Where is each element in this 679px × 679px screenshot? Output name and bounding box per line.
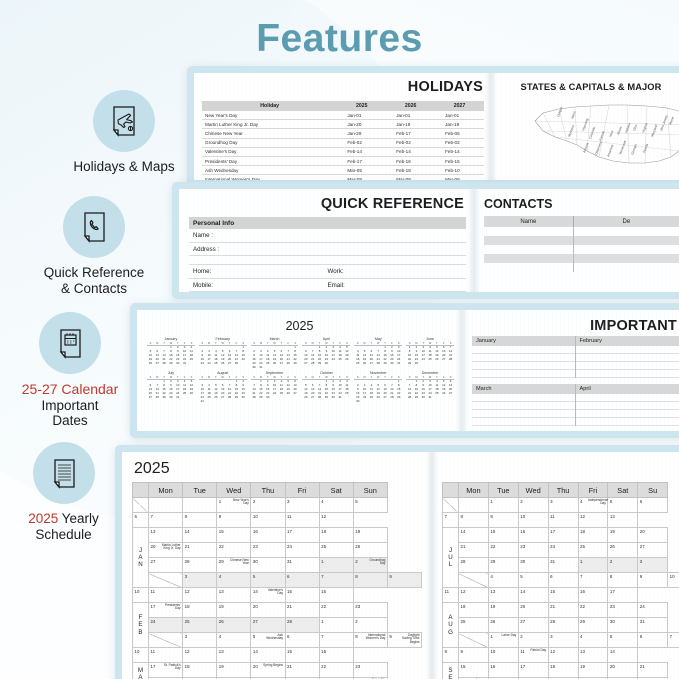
important-dates-lines[interactable] — [472, 394, 575, 426]
mini-day-cell — [188, 396, 195, 400]
mini-day-cell: 31 — [181, 362, 188, 366]
schedule-day-cell[interactable]: 27 — [518, 618, 548, 633]
schedule-day-cell[interactable]: 4 — [217, 573, 251, 588]
schedule-day-cell[interactable]: 13 — [149, 528, 183, 543]
schedule-day-cell[interactable]: 9 — [217, 513, 251, 528]
schedule-day-cell[interactable]: 2 — [608, 558, 638, 573]
schedule-day-cell[interactable]: 7 — [319, 633, 353, 648]
schedule-day-cell[interactable]: 23 — [353, 663, 387, 678]
contacts-name-cell[interactable] — [484, 254, 574, 263]
important-dates-month-cell[interactable]: February — [576, 336, 679, 378]
schedule-day-cell[interactable]: 13 — [217, 588, 251, 603]
schedule-day-cell[interactable]: 2 — [353, 618, 387, 633]
holiday-date-cell: Feb-17 — [386, 129, 435, 138]
mini-month: OctoberSMTWTFS12345678910111213141516171… — [302, 371, 350, 403]
schedule-day-cell[interactable]: 30 — [518, 558, 548, 573]
schedule-day-cell[interactable]: 23 — [608, 603, 638, 618]
schedule-day-cell[interactable]: 11 — [443, 588, 459, 603]
schedule-day-cell[interactable]: 12 — [183, 588, 217, 603]
schedule-year-right: 2 — [432, 460, 679, 478]
schedule-day-cell[interactable]: 20 — [638, 528, 668, 543]
schedule-day-cell[interactable]: 16 — [518, 528, 548, 543]
schedule-day-cell[interactable]: 2 — [518, 633, 548, 648]
schedule-day-cell[interactable]: 7 — [578, 573, 608, 588]
important-dates-month-label: March — [472, 384, 575, 394]
schedule-day-cell[interactable]: 18 — [548, 663, 578, 678]
schedule-day-cell[interactable]: 25 — [319, 543, 353, 558]
important-dates-lines[interactable] — [472, 346, 575, 378]
feature-label-line1: Holidays & Maps — [48, 159, 200, 175]
schedule-day-cell[interactable]: 25 — [459, 618, 489, 633]
schedule-day-cell[interactable]: 3 — [548, 498, 578, 513]
contacts-name-cell[interactable] — [484, 227, 574, 236]
day-number: 22 — [490, 544, 495, 549]
write-line[interactable] — [472, 370, 575, 378]
schedule-day-cell[interactable]: 9 — [488, 513, 518, 528]
schedule-day-cell[interactable]: 14 — [459, 528, 489, 543]
contacts-details-cell[interactable] — [574, 236, 679, 245]
schedule-day-cell[interactable]: 15 — [548, 588, 578, 603]
schedule-day-cell[interactable]: 22 — [578, 603, 608, 618]
schedule-day-cell[interactable]: 19 — [217, 603, 251, 618]
contacts-row[interactable] — [484, 263, 679, 272]
schedule-day-cell[interactable] — [183, 498, 217, 513]
schedule-day-cell[interactable]: 9Daylight Saving Time Begins — [387, 633, 421, 648]
schedule-day-cell[interactable]: 28 — [459, 558, 489, 573]
schedule-day-cell[interactable]: 11Patriot Day — [518, 648, 548, 663]
holiday-date-cell: Jan-01 — [337, 111, 386, 120]
schedule-day-cell[interactable]: 11 — [285, 513, 319, 528]
schedule-day-cell[interactable]: 3 — [285, 498, 319, 513]
mini-day-cell — [343, 396, 350, 400]
mini-day-cell: 28 — [309, 362, 316, 366]
day-number: 12 — [185, 589, 190, 594]
important-dates-lines[interactable] — [576, 346, 679, 378]
contacts-name-cell[interactable] — [484, 236, 574, 245]
schedule-day-cell[interactable]: 20Spring Begins — [251, 663, 285, 678]
schedule-day-cell[interactable]: 10 — [668, 573, 679, 588]
holiday-date-cell: Jan-19 — [386, 120, 435, 129]
schedule-day-cell[interactable]: 31 — [285, 558, 319, 573]
schedule-day-cell[interactable]: 28 — [285, 618, 319, 633]
day-number: 16 — [321, 589, 326, 594]
schedule-day-cell[interactable]: 31 — [548, 558, 578, 573]
page-holidays: HOLIDAYS Holiday202520262027 New Year's … — [194, 73, 491, 180]
schedule-day-cell[interactable]: 1 — [319, 618, 353, 633]
mini-day-cell: 29 — [413, 396, 420, 400]
schedule-day-cell[interactable]: 19 — [353, 528, 387, 543]
write-line[interactable] — [472, 418, 575, 426]
schedule-day-cell[interactable]: 8 — [443, 648, 459, 663]
schedule-day-cell[interactable]: 17 — [548, 528, 578, 543]
schedule-day-cell[interactable]: 4 — [319, 498, 353, 513]
important-dates-row: JanuaryFebruary — [472, 336, 679, 378]
schedule-day-cell[interactable]: 30 — [251, 558, 285, 573]
schedule-day-cell[interactable]: 14 — [183, 528, 217, 543]
schedule-day-cell[interactable]: 22 — [319, 603, 353, 618]
schedule-day-cell[interactable]: 13 — [608, 513, 638, 528]
mini-day-cell — [395, 400, 402, 404]
mini-day-cell: 28 — [154, 396, 161, 400]
important-dates-lines[interactable] — [576, 394, 679, 426]
schedule-day-cell[interactable]: 13 — [217, 648, 251, 663]
schedule-day-cell[interactable]: 29 — [578, 618, 608, 633]
schedule-day-cell[interactable]: 12 — [183, 648, 217, 663]
schedule-day-cell[interactable] — [149, 498, 183, 513]
day-number: 8 — [445, 649, 447, 654]
write-line[interactable] — [576, 418, 679, 426]
schedule-day-cell[interactable]: 7 — [319, 573, 353, 588]
mini-day-cell: 27 — [147, 396, 154, 400]
schedule-day-cell[interactable]: 26 — [488, 618, 518, 633]
mini-day-cell: 27 — [226, 362, 233, 366]
holiday-date-cell: Jan-18 — [435, 120, 484, 129]
schedule-day-cell[interactable]: 16 — [251, 528, 285, 543]
svg-text:Indiana: Indiana — [624, 122, 631, 133]
schedule-day-cell[interactable]: 11 — [149, 648, 183, 663]
table-row: New Year's DayJan-01Jan-01Jan-01 — [202, 111, 484, 120]
schedule-day-cell[interactable]: 9 — [459, 648, 489, 663]
dow-label: W — [375, 376, 382, 379]
schedule-day-cell[interactable]: 28 — [183, 558, 217, 573]
schedule-day-cell[interactable]: 21 — [548, 603, 578, 618]
write-line[interactable] — [576, 354, 679, 362]
schedule-day-cell[interactable]: 17Presidents' Day — [149, 603, 183, 618]
day-number: 7 — [445, 514, 447, 519]
dow-label: T — [212, 342, 219, 345]
dow-label: S — [354, 342, 361, 345]
schedule-day-cell[interactable]: 29 — [488, 558, 518, 573]
mini-day-cell: 30 — [420, 396, 427, 400]
mini-day-cell: 26 — [147, 362, 154, 366]
schedule-day-cell[interactable]: 27 — [149, 558, 183, 573]
important-dates-month-cell[interactable]: March — [472, 384, 576, 426]
schedule-day-cell[interactable]: 10 — [251, 513, 285, 528]
schedule-day-cell[interactable]: 23 — [518, 543, 548, 558]
day-number: 3 — [185, 574, 187, 579]
mini-day-cell: 29 — [167, 362, 174, 366]
schedule-day-cell[interactable]: 6 — [638, 498, 668, 513]
schedule-day-cell[interactable]: 21 — [285, 603, 319, 618]
schedule-day-cell[interactable]: 7 — [443, 513, 459, 528]
schedule-day-cell[interactable]: 26 — [217, 618, 251, 633]
holiday-name-cell: Valentine's Day — [202, 147, 337, 156]
schedule-day-cell[interactable]: 20Martin Luther King Jr. Day — [149, 543, 183, 558]
day-number: 27 — [520, 619, 525, 624]
feature-item-holidays-maps[interactable]: Holidays & Maps — [48, 90, 200, 175]
schedule-day-cell[interactable]: 3 — [183, 633, 217, 648]
schedule-day-cell[interactable]: 17 — [518, 663, 548, 678]
mini-day-cell — [368, 400, 375, 404]
schedule-day-cell[interactable]: 25 — [183, 618, 217, 633]
mini-day-cell: 27 — [302, 362, 309, 366]
schedule-day-cell[interactable]: 1 — [319, 558, 353, 573]
day-number: 23 — [355, 604, 360, 609]
schedule-day-cell[interactable]: 11 — [149, 588, 183, 603]
schedule-day-cell[interactable]: 20 — [608, 663, 638, 678]
schedule-day-cell[interactable]: 21 — [638, 663, 668, 678]
write-line[interactable] — [472, 346, 575, 354]
schedule-day-cell[interactable]: 12 — [319, 513, 353, 528]
svg-text:Ohio: Ohio — [632, 124, 638, 132]
schedule-day-cell[interactable]: 3 — [548, 633, 578, 648]
feature-item-calendar-important-dates[interactable]: 25-27 Calendar Important Dates — [0, 312, 140, 429]
write-line[interactable] — [576, 394, 679, 402]
schedule-day-cell[interactable]: 8 — [459, 513, 489, 528]
contacts-row[interactable] — [484, 227, 679, 236]
schedule-day-cell[interactable]: 12 — [578, 513, 608, 528]
schedule-day-cell[interactable]: 23 — [251, 543, 285, 558]
mini-day-cell: 28 — [233, 362, 240, 366]
mini-month: AugustSMTWTFS123456789101112131415161718… — [199, 371, 247, 403]
schedule-day-cell[interactable]: 27 — [638, 543, 668, 558]
schedule-day-cell[interactable]: 14 — [518, 588, 548, 603]
write-line[interactable] — [472, 394, 575, 402]
personal-info-row[interactable]: Name : — [189, 229, 466, 243]
schedule-day-cell[interactable]: 10 — [488, 648, 518, 663]
schedule-day-cell[interactable]: 24 — [285, 543, 319, 558]
schedule-day-cell[interactable]: 23 — [353, 603, 387, 618]
schedule-day-cell[interactable]: 9 — [638, 573, 668, 588]
personal-info-block: Personal Info Name :Address :Home:Work:M… — [189, 217, 466, 292]
day-number: 17 — [287, 529, 292, 534]
feature-item-quick-reference-contacts[interactable]: Quick Reference & Contacts — [18, 196, 170, 297]
schedule-day-cell[interactable]: 5Ash Wednesday — [251, 633, 285, 648]
contacts-details-cell[interactable] — [574, 227, 679, 236]
day-number: 23 — [610, 604, 615, 609]
schedule-day-cell[interactable]: 12 — [548, 648, 578, 663]
schedule-dow-header: Thu — [548, 483, 578, 498]
schedule-day-cell[interactable]: 18 — [183, 603, 217, 618]
schedule-day-cell[interactable]: 25 — [578, 543, 608, 558]
schedule-day-cell[interactable]: 19 — [608, 528, 638, 543]
schedule-day-cell[interactable]: 16 — [488, 663, 518, 678]
schedule-year-left: 2025 — [134, 460, 432, 478]
mini-month-name: February — [199, 337, 247, 341]
schedule-day-cell[interactable]: 18 — [319, 528, 353, 543]
schedule-day-cell[interactable]: 19 — [578, 663, 608, 678]
schedule-day-cell[interactable]: 24 — [548, 543, 578, 558]
schedule-day-cell[interactable]: 5 — [608, 498, 638, 513]
personal-info-row[interactable]: Home:Work: — [189, 265, 466, 279]
dow-label: T — [368, 376, 375, 379]
schedule-day-cell[interactable]: 14Valentine's Day — [251, 588, 285, 603]
schedule-day-cell[interactable]: 20 — [251, 603, 285, 618]
schedule-day-cell[interactable]: 6 — [548, 573, 578, 588]
schedule-day-cell[interactable]: 31 — [638, 618, 668, 633]
contacts-row[interactable] — [484, 254, 679, 263]
schedule-day-cell[interactable]: 1New Year's Day — [217, 498, 251, 513]
schedule-day-cell[interactable]: 15 — [488, 528, 518, 543]
schedule-day-cell[interactable]: 6 — [133, 513, 149, 528]
day-number: 15 — [550, 589, 555, 594]
day-number: 11 — [520, 649, 525, 654]
month-letter: M — [133, 667, 148, 674]
write-line[interactable] — [472, 362, 575, 370]
field-label-left: Home: — [193, 268, 328, 275]
schedule-day-cell[interactable]: 17St. Patrick's Day — [149, 663, 183, 678]
personal-info-row[interactable]: Address : — [189, 243, 466, 257]
schedule-day-cell[interactable]: 6 — [638, 633, 668, 648]
personal-info-row[interactable]: Mobile:Email: — [189, 279, 466, 293]
day-number: 1 — [321, 619, 323, 624]
schedule-day-cell[interactable]: 22 — [488, 543, 518, 558]
schedule-body-left: 1New Year's Day23456789101112JAN13141516… — [133, 498, 422, 679]
schedule-day-cell[interactable]: 14 — [608, 648, 638, 663]
contacts-details-cell[interactable] — [574, 263, 679, 272]
schedule-day-cell[interactable]: 18 — [183, 663, 217, 678]
schedule-day-cell[interactable]: 18 — [578, 528, 608, 543]
contacts-details-cell[interactable] — [574, 254, 679, 263]
schedule-day-cell[interactable]: 14 — [251, 648, 285, 663]
schedule-day-cell[interactable]: 22 — [217, 543, 251, 558]
day-number: 17 — [520, 664, 525, 669]
day-number: 9 — [219, 514, 221, 519]
schedule-day-cell[interactable]: 10 — [133, 588, 149, 603]
schedule-day-cell[interactable]: 5 — [518, 573, 548, 588]
write-line[interactable] — [576, 362, 679, 370]
schedule-day-cell[interactable]: 4 — [578, 633, 608, 648]
write-line[interactable] — [576, 346, 679, 354]
schedule-day-cell[interactable]: 17 — [285, 528, 319, 543]
mini-day-cell — [447, 362, 454, 366]
schedule-day-cell[interactable]: 15 — [285, 648, 319, 663]
schedule-day-cell[interactable]: 3 — [638, 558, 668, 573]
mini-day-cell — [181, 396, 188, 400]
schedule-day-cell[interactable]: 10 — [518, 513, 548, 528]
contacts-name-cell[interactable] — [484, 245, 574, 254]
day-number: 19 — [355, 529, 360, 534]
day-number: 21 — [640, 664, 645, 669]
day-number: 17 — [151, 664, 156, 669]
mini-day-cell — [188, 362, 195, 366]
mini-month-week: 30 — [354, 400, 402, 404]
schedule-day-cell[interactable]: 7Grandpa — [668, 633, 679, 648]
dow-label: F — [233, 342, 240, 345]
holiday-name-cell: Chinese New Year — [202, 129, 337, 138]
schedule-day-cell[interactable]: 3 — [183, 573, 217, 588]
schedule-day-cell[interactable]: 12 — [459, 588, 489, 603]
schedule-day-cell[interactable]: 5 — [251, 573, 285, 588]
write-line[interactable] — [472, 354, 575, 362]
schedule-day-cell[interactable]: 7 — [149, 513, 183, 528]
contacts-details-cell[interactable] — [574, 245, 679, 254]
important-dates-month-cell[interactable]: April — [576, 384, 679, 426]
feature-item-yearly-schedule[interactable]: 2025 Yearly Schedule — [0, 442, 131, 543]
schedule-day-cell[interactable]: 24 — [149, 618, 183, 633]
contacts-row[interactable] — [484, 245, 679, 254]
schedule-day-cell[interactable]: 16 — [319, 588, 353, 603]
mini-month-name: August — [199, 371, 247, 375]
schedule-day-cell[interactable]: 2 — [251, 498, 285, 513]
schedule-day-cell[interactable]: 15 — [459, 663, 489, 678]
schedule-day-cell[interactable]: 6 — [285, 573, 319, 588]
schedule-day-cell[interactable]: 2Groundhog Day — [353, 558, 387, 573]
schedule-day-cell[interactable]: 24 — [638, 603, 668, 618]
book-spread-quick-reference: QUICK REFERENCE Personal Info Name :Addr… — [172, 182, 679, 299]
schedule-day-cell[interactable]: 8 — [608, 573, 638, 588]
schedule-day-cell[interactable]: 1 — [578, 558, 608, 573]
feature-label-line1: 2025 Yearly — [0, 511, 131, 527]
schedule-day-cell[interactable]: 15 — [285, 588, 319, 603]
poster-canvas: Features Holidays & Maps Quick Refer — [0, 0, 679, 679]
schedule-week-row: 6789101112 — [133, 513, 422, 528]
schedule-day-cell[interactable]: 21 — [459, 543, 489, 558]
schedule-day-cell[interactable]: 11 — [548, 513, 578, 528]
dow-label: W — [375, 342, 382, 345]
schedule-day-cell[interactable]: 13 — [488, 588, 518, 603]
day-number: 5 — [253, 574, 255, 579]
schedule-day-cell[interactable]: 4 — [217, 633, 251, 648]
schedule-day-cell[interactable]: 6 — [285, 633, 319, 648]
day-number: 31 — [287, 559, 292, 564]
schedule-day-cell[interactable]: 10 — [133, 648, 149, 663]
schedule-day-cell[interactable]: 8International Women's Day — [353, 633, 387, 648]
schedule-day-cell[interactable]: 13 — [578, 648, 608, 663]
schedule-day-cell[interactable]: 20 — [518, 603, 548, 618]
mini-month: DecemberSMTWTFS1234567891011121314151617… — [406, 371, 454, 403]
schedule-day-cell[interactable]: 16 — [578, 588, 608, 603]
day-number: 25 — [321, 544, 326, 549]
schedule-day-cell[interactable]: 8 — [183, 513, 217, 528]
feature-label-line1: Important — [0, 398, 140, 414]
schedule-day-cell[interactable]: 4 — [488, 573, 518, 588]
schedule-day-cell[interactable]: 2 — [518, 498, 548, 513]
svg-text:Oregon: Oregon — [556, 106, 563, 117]
schedule-day-cell[interactable]: 19 — [488, 603, 518, 618]
day-number: 12 — [185, 649, 190, 654]
schedule-day-cell[interactable]: 22 — [319, 663, 353, 678]
contacts-name-cell[interactable] — [484, 263, 574, 272]
schedule-day-cell[interactable]: 18 — [459, 603, 489, 618]
schedule-day-cell[interactable]: 9 — [387, 573, 421, 588]
schedule-week-row: 242526272812 — [133, 618, 422, 633]
write-line[interactable] — [576, 402, 679, 410]
schedule-day-cell[interactable]: 4Independence Day — [578, 498, 608, 513]
schedule-day-cell[interactable]: 26 — [353, 543, 387, 558]
schedule-day-cell[interactable]: 5 — [608, 633, 638, 648]
book-spread-yearly-schedule: 2025 MonTueWedThuFriSatSun 1New Year's D… — [115, 445, 679, 679]
schedule-day-cell[interactable]: 15 — [217, 528, 251, 543]
schedule-week-row: FEB17Presidents' Day181920212223 — [133, 603, 422, 618]
day-number: 2 — [520, 634, 522, 639]
schedule-day-cell[interactable]: 16 — [319, 648, 353, 663]
schedule-day-cell[interactable]: 30 — [608, 618, 638, 633]
schedule-day-cell[interactable]: 5 — [353, 498, 387, 513]
schedule-day-cell[interactable]: 26 — [608, 543, 638, 558]
schedule-day-cell[interactable]: 21 — [285, 663, 319, 678]
write-line[interactable] — [576, 370, 679, 378]
day-number: 17 — [610, 589, 615, 594]
schedule-day-cell[interactable] — [459, 498, 489, 513]
schedule-day-cell[interactable]: 1Labor Day — [488, 633, 518, 648]
schedule-day-cell[interactable]: 19 — [217, 663, 251, 678]
schedule-day-cell[interactable]: 8 — [353, 573, 387, 588]
important-dates-month-cell[interactable]: January — [472, 336, 576, 378]
dow-label: W — [219, 376, 226, 379]
write-line[interactable] — [576, 410, 679, 418]
schedule-day-cell[interactable]: 21 — [183, 543, 217, 558]
write-line[interactable] — [472, 410, 575, 418]
write-line[interactable] — [472, 402, 575, 410]
schedule-day-cell[interactable]: 28 — [548, 618, 578, 633]
mini-month-week: 282930 — [251, 396, 299, 400]
schedule-day-cell[interactable]: 27 — [251, 618, 285, 633]
contacts-row[interactable] — [484, 236, 679, 245]
schedule-day-cell[interactable]: 29Chinese New Year — [217, 558, 251, 573]
schedule-day-cell[interactable]: 17 — [608, 588, 638, 603]
schedule-day-cell[interactable]: 1 — [488, 498, 518, 513]
